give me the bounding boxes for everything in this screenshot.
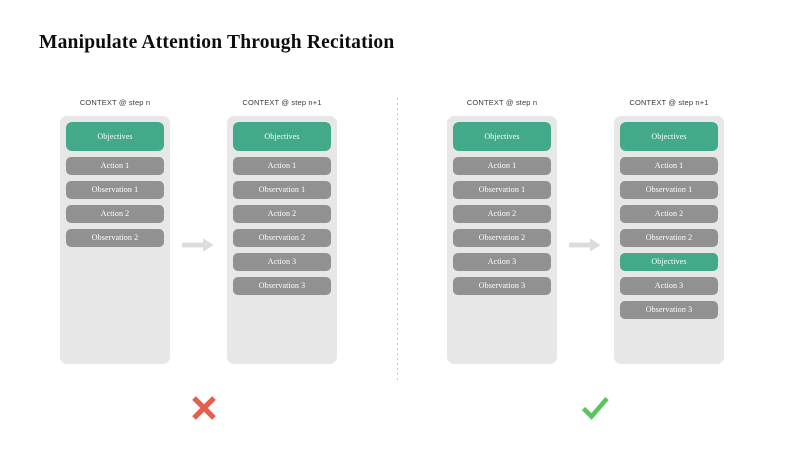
pill-action-2[interactable]: Action 2 [620, 205, 718, 223]
column-header: CONTEXT @ step n [447, 98, 557, 108]
column-left-step-n: CONTEXT @ step n Objectives Action 1 Obs… [60, 98, 170, 364]
column-left-step-n-plus-1: CONTEXT @ step n+1 Objectives Action 1 O… [227, 98, 337, 364]
column-header: CONTEXT @ step n+1 [227, 98, 337, 108]
pill-action-3[interactable]: Action 3 [620, 277, 718, 295]
check-mark-icon [578, 391, 612, 425]
pill-action-1[interactable]: Action 1 [620, 157, 718, 175]
pill-objectives[interactable]: Objectives [453, 122, 551, 151]
pill-action-2[interactable]: Action 2 [453, 205, 551, 223]
pill-observation-1[interactable]: Observation 1 [66, 181, 164, 199]
pill-action-2[interactable]: Action 2 [66, 205, 164, 223]
column-right-step-n-plus-1: CONTEXT @ step n+1 Objectives Action 1 O… [614, 98, 724, 364]
pill-observation-1[interactable]: Observation 1 [620, 181, 718, 199]
pill-observation-2[interactable]: Observation 2 [66, 229, 164, 247]
column-header: CONTEXT @ step n+1 [614, 98, 724, 108]
panel-divider [397, 98, 398, 383]
cross-mark-icon [187, 391, 221, 425]
pill-objectives-recited[interactable]: Objectives [620, 253, 718, 271]
pill-action-3[interactable]: Action 3 [233, 253, 331, 271]
right-arrow-icon [180, 237, 220, 253]
pill-observation-3[interactable]: Observation 3 [620, 301, 718, 319]
pill-observation-3[interactable]: Observation 3 [453, 277, 551, 295]
context-box: Objectives Action 1 Observation 1 Action… [447, 116, 557, 364]
pill-action-1[interactable]: Action 1 [66, 157, 164, 175]
pill-action-1[interactable]: Action 1 [233, 157, 331, 175]
pill-observation-3[interactable]: Observation 3 [233, 277, 331, 295]
pill-observation-2[interactable]: Observation 2 [453, 229, 551, 247]
pill-action-2[interactable]: Action 2 [233, 205, 331, 223]
pill-action-1[interactable]: Action 1 [453, 157, 551, 175]
context-box: Objectives Action 1 Observation 1 Action… [60, 116, 170, 364]
pill-objectives[interactable]: Objectives [66, 122, 164, 151]
pill-observation-1[interactable]: Observation 1 [453, 181, 551, 199]
pill-objectives[interactable]: Objectives [620, 122, 718, 151]
context-box: Objectives Action 1 Observation 1 Action… [227, 116, 337, 364]
recitation-diagram: CONTEXT @ step n Objectives Action 1 Obs… [0, 0, 800, 450]
column-header: CONTEXT @ step n [60, 98, 170, 108]
pill-objectives[interactable]: Objectives [233, 122, 331, 151]
context-box: Objectives Action 1 Observation 1 Action… [614, 116, 724, 364]
pill-observation-2[interactable]: Observation 2 [233, 229, 331, 247]
pill-action-3[interactable]: Action 3 [453, 253, 551, 271]
slide-canvas: Manipulate Attention Through Recitation … [0, 0, 800, 450]
column-right-step-n: CONTEXT @ step n Objectives Action 1 Obs… [447, 98, 557, 364]
pill-observation-2[interactable]: Observation 2 [620, 229, 718, 247]
right-arrow-icon [567, 237, 607, 253]
pill-observation-1[interactable]: Observation 1 [233, 181, 331, 199]
